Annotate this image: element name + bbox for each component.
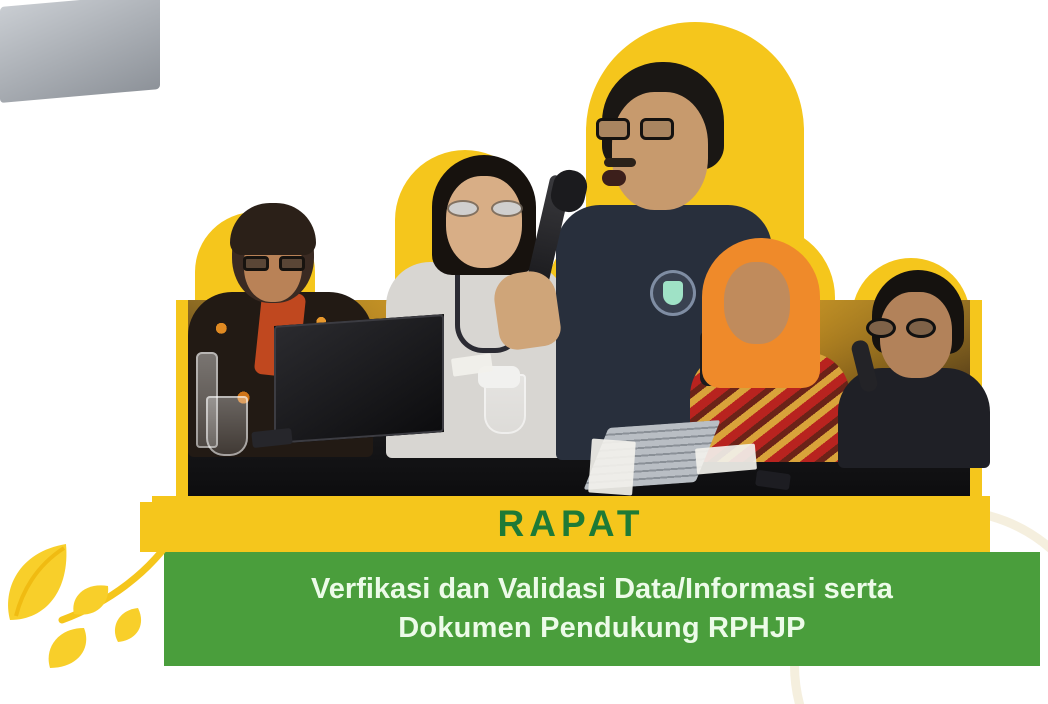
- face: [724, 262, 790, 344]
- subtitle-line-2: Dokumen Pendukung RPHJP: [398, 612, 805, 645]
- moustache: [604, 158, 636, 167]
- glasses-icon: [596, 118, 674, 140]
- document-paper: [588, 439, 636, 496]
- glasses-icon: [866, 318, 936, 338]
- laptop-silver: [0, 0, 160, 103]
- laptop-black: [274, 314, 444, 444]
- document-paper: [695, 443, 757, 474]
- face: [446, 176, 522, 268]
- face: [612, 92, 708, 210]
- hair: [230, 203, 316, 255]
- drinking-glass: [206, 396, 248, 456]
- subtitle-block: Verfikasi dan Validasi Data/Informasi se…: [164, 552, 1040, 666]
- mouth: [602, 170, 626, 186]
- poster-canvas: RAPAT Verfikasi dan Validasi Data/Inform…: [0, 0, 1048, 704]
- leaf-branch-icon: [0, 520, 180, 670]
- subtitle-line-1: Verfikasi dan Validasi Data/Informasi se…: [311, 573, 893, 606]
- organization-logo: [650, 270, 696, 316]
- glasses-icon: [243, 256, 305, 271]
- glasses-icon: [447, 200, 523, 217]
- page-title: RAPAT: [152, 496, 990, 552]
